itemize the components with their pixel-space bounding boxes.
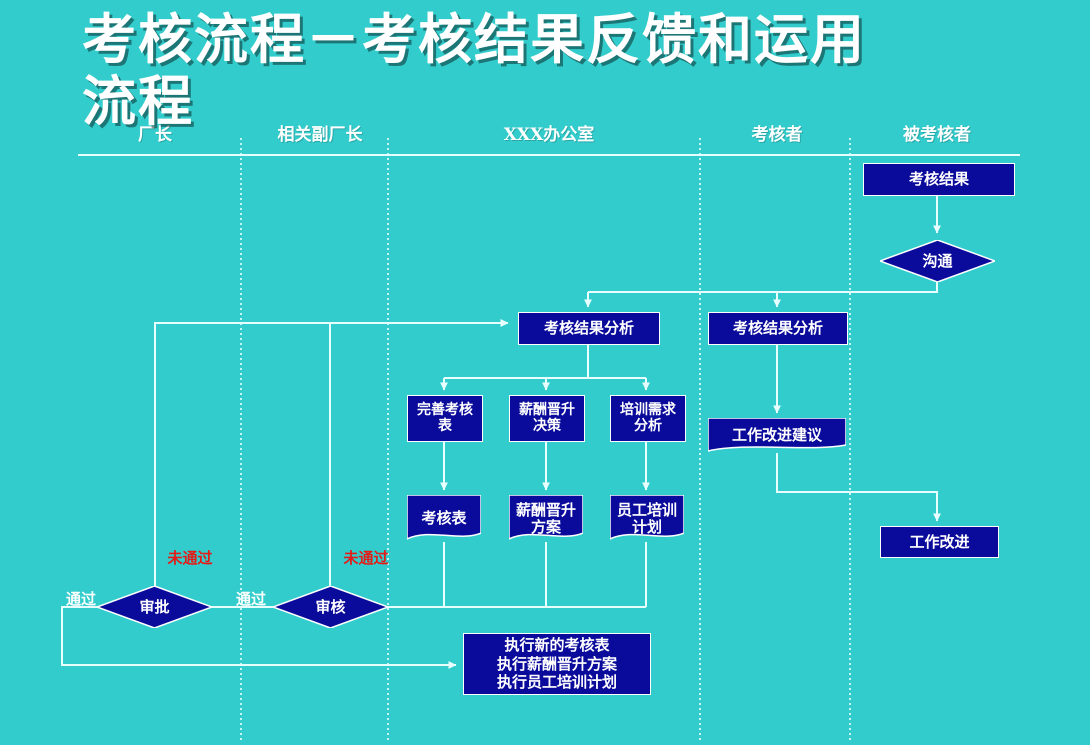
node-label: 考核表 bbox=[407, 510, 481, 527]
lane-header-assessee: 被考核者 bbox=[903, 120, 971, 145]
edge-docs-collect bbox=[444, 542, 646, 607]
edge-label-reject-review: 未通过 bbox=[343, 547, 388, 568]
lane-header-factory-director: 厂长 bbox=[138, 120, 172, 145]
node-work-improvement-suggestion[interactable]: 工作改进建议 bbox=[708, 418, 846, 453]
edge-label-reject-approval: 未通过 bbox=[167, 547, 212, 568]
node-communicate[interactable]: 沟通 bbox=[880, 240, 995, 282]
node-assessment-form[interactable]: 考核表 bbox=[407, 495, 481, 542]
node-label: 员工培训 计划 bbox=[610, 502, 684, 536]
edge-label-pass-review: 通过 bbox=[236, 588, 266, 609]
node-improve-assessment-form[interactable]: 完善考核 表 bbox=[407, 395, 483, 442]
lane-header-assessor: 考核者 bbox=[752, 120, 803, 145]
node-assessment-result[interactable]: 考核结果 bbox=[863, 163, 1015, 196]
node-salary-promotion-decision[interactable]: 薪酬晋升 决策 bbox=[509, 395, 585, 442]
edge-jianyi-to-gaijin bbox=[777, 453, 937, 521]
node-execute-plans[interactable]: 执行新的考核表 执行薪酬晋升方案 执行员工培训计划 bbox=[463, 633, 651, 695]
node-label: 薪酬晋升 方案 bbox=[509, 502, 583, 536]
node-training-need-analysis[interactable]: 培训需求 分析 bbox=[610, 395, 686, 442]
node-label: 审核 bbox=[315, 599, 345, 616]
node-employee-training-plan[interactable]: 员工培训 计划 bbox=[610, 495, 684, 542]
lane-header-deputy-director: 相关副厂长 bbox=[278, 120, 363, 145]
node-work-improvement[interactable]: 工作改进 bbox=[880, 526, 999, 558]
node-approval[interactable]: 审批 bbox=[97, 586, 212, 628]
node-label: 工作改进建议 bbox=[708, 427, 846, 444]
flowchart-canvas: 审批 --> 厂长 相关副厂长 XXX办公室 考核者 被考核者 考核流程－考核结… bbox=[0, 0, 1090, 745]
node-review[interactable]: 审核 bbox=[273, 586, 388, 628]
lane-header-xxx-office: XXX办公室 bbox=[504, 120, 595, 145]
node-salary-promotion-plan[interactable]: 薪酬晋升 方案 bbox=[509, 495, 583, 542]
node-label: 沟通 bbox=[922, 253, 952, 270]
edge-label-pass-approval: 通过 bbox=[66, 588, 96, 609]
node-label: 审批 bbox=[139, 599, 169, 616]
edge-goutong-bus bbox=[588, 282, 937, 292]
node-result-analysis-assessor[interactable]: 考核结果分析 bbox=[708, 312, 848, 345]
node-result-analysis-office[interactable]: 考核结果分析 bbox=[518, 312, 660, 345]
